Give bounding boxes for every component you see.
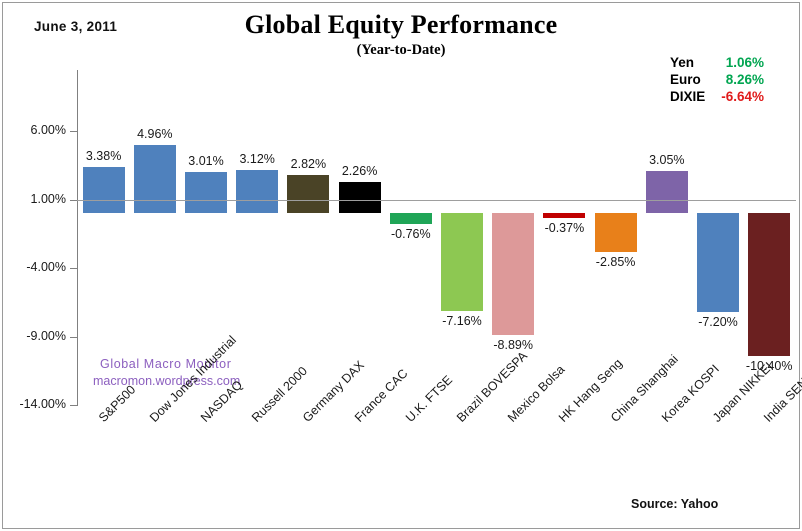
plot-area: 3.38%4.96%3.01%3.12%2.82%2.26%-0.76%-7.1… [78,70,795,405]
bar [185,172,227,213]
y-axis-tick-label: -14.00% [0,397,66,411]
bar-value-label: 2.26% [328,164,392,178]
bar [339,182,381,213]
bar [83,167,125,213]
bar-value-label: 3.38% [72,149,136,163]
bar-value-label: -2.85% [584,255,648,269]
zero-baseline [77,200,796,201]
y-axis-tick-mark [70,200,77,201]
bar [134,145,176,213]
y-axis-tick-label: -4.00% [0,260,66,274]
y-axis-tick-label: 6.00% [0,123,66,137]
bar-value-label: -7.16% [430,314,494,328]
y-axis-tick-mark [70,131,77,132]
bar [492,213,534,335]
y-axis-tick-mark [70,268,77,269]
bar [595,213,637,252]
bar-value-label: 3.05% [635,153,699,167]
bar [390,213,432,223]
watermark-line2: macromon.wordpress.com [93,373,240,390]
y-axis-tick-mark [70,337,77,338]
bar-value-label: -0.37% [532,221,596,235]
bar-value-label: -7.20% [686,315,750,329]
bar-value-label: -8.89% [481,338,545,352]
bar [236,170,278,213]
bar-value-label: 4.96% [123,127,187,141]
chart-screenshot: June 3, 2011 Global Equity Performance (… [0,0,802,531]
bar [748,213,790,355]
y-axis-tick-label: 1.00% [0,192,66,206]
bar [697,213,739,312]
bar-value-label: -0.76% [379,227,443,241]
bar [287,175,329,214]
y-axis-tick-label: -9.00% [0,329,66,343]
page-title: Global Equity Performance [0,10,802,40]
bar [441,213,483,311]
bar [646,171,688,213]
bar [543,213,585,218]
y-axis-tick-mark [70,405,77,406]
source-note: Source: Yahoo [631,497,718,511]
